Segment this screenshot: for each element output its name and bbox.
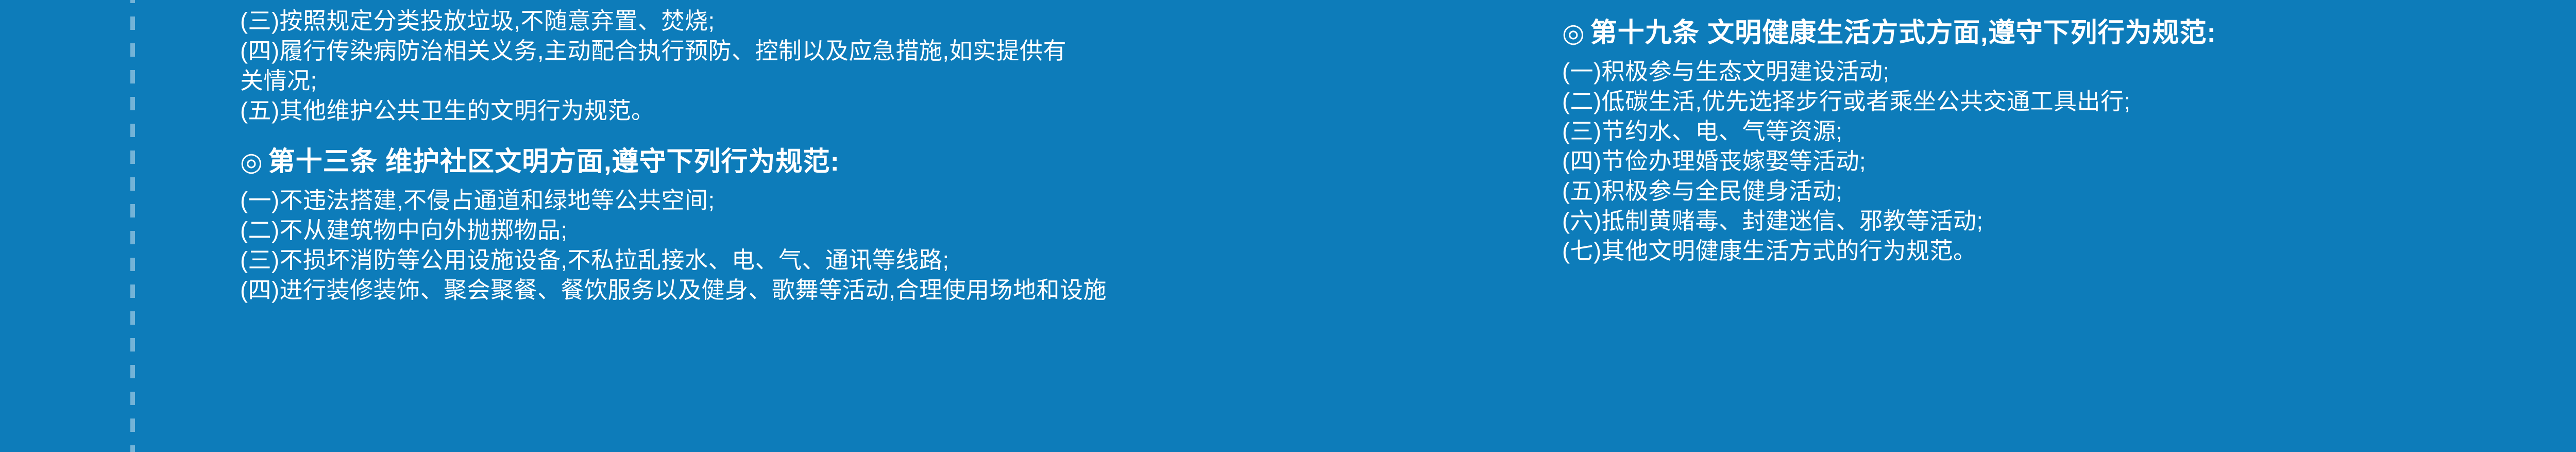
article-13-number: 第十三条 xyxy=(268,147,378,177)
right-column-top-gap xyxy=(1562,0,2216,18)
poster-canvas: (三)按照规定分类投放垃圾,不随意弃置、焚烧; (四)履行传染病防治相关义务,主… xyxy=(0,0,2576,452)
article-marker-icon: ◎ xyxy=(240,147,263,176)
article-13-item-4: (四)进行装修装饰、聚会聚餐、餐饮服务以及健身、歌舞等活动,合理使用场地和设施 xyxy=(240,275,1107,305)
left-continued-item-4-wrap: 关情况; xyxy=(240,66,1107,96)
article-19-item-4: (四)节俭办理婚丧嫁娶等活动; xyxy=(1562,146,2216,176)
left-column: (三)按照规定分类投放垃圾,不随意弃置、焚烧; (四)履行传染病防治相关义务,主… xyxy=(240,0,1492,452)
article-13-item-3: (三)不损坏消防等公用设施设备,不私拉乱接水、电、气、通讯等线路; xyxy=(240,245,1107,275)
article-13-heading: ◎第十三条 维护社区文明方面,遵守下列行为规范: xyxy=(240,146,1107,177)
dashed-rail-left xyxy=(130,0,135,452)
article-13-heading-gap xyxy=(240,177,1107,186)
article-19-item-2: (二)低碳生活,优先选择步行或者乘坐公共交通工具出行; xyxy=(1562,87,2216,116)
article-19-item-7: (七)其他文明健康生活方式的行为规范。 xyxy=(1562,236,2216,266)
article-19-heading: ◎第十九条 文明健康生活方式方面,遵守下列行为规范: xyxy=(1562,18,2216,48)
article-marker-icon: ◎ xyxy=(1562,19,1585,47)
left-continued-item-5: (五)其他维护公共卫生的文明行为规范。 xyxy=(240,96,1107,126)
article-19-title: 文明健康生活方式方面,遵守下列行为规范: xyxy=(1707,18,2216,48)
right-column: ◎第十九条 文明健康生活方式方面,遵守下列行为规范: (一)积极参与生态文明建设… xyxy=(1562,0,2576,452)
article-19-item-1: (一)积极参与生态文明建设活动; xyxy=(1562,57,2216,87)
left-section-gap xyxy=(240,126,1107,146)
left-column-stack: (三)按照规定分类投放垃圾,不随意弃置、焚烧; (四)履行传染病防治相关义务,主… xyxy=(240,6,1107,305)
right-column-stack: ◎第十九条 文明健康生活方式方面,遵守下列行为规范: (一)积极参与生态文明建设… xyxy=(1562,0,2216,266)
left-continued-item-3: (三)按照规定分类投放垃圾,不随意弃置、焚烧; xyxy=(240,6,1107,36)
article-19-item-6: (六)抵制黄赌毒、封建迷信、邪教等活动; xyxy=(1562,206,2216,236)
article-19-heading-gap xyxy=(1562,48,2216,57)
article-13-item-2: (二)不从建筑物中向外抛掷物品; xyxy=(240,215,1107,245)
article-19-item-3: (三)节约水、电、气等资源; xyxy=(1562,116,2216,146)
article-19-number: 第十九条 xyxy=(1590,18,1700,48)
left-continued-item-4: (四)履行传染病防治相关义务,主动配合执行预防、控制以及应急措施,如实提供有 xyxy=(240,36,1107,66)
article-19-item-5: (五)积极参与全民健身活动; xyxy=(1562,176,2216,206)
article-13-title: 维护社区文明方面,遵守下列行为规范: xyxy=(385,147,840,177)
article-13-item-1: (一)不违法搭建,不侵占通道和绿地等公共空间; xyxy=(240,186,1107,215)
